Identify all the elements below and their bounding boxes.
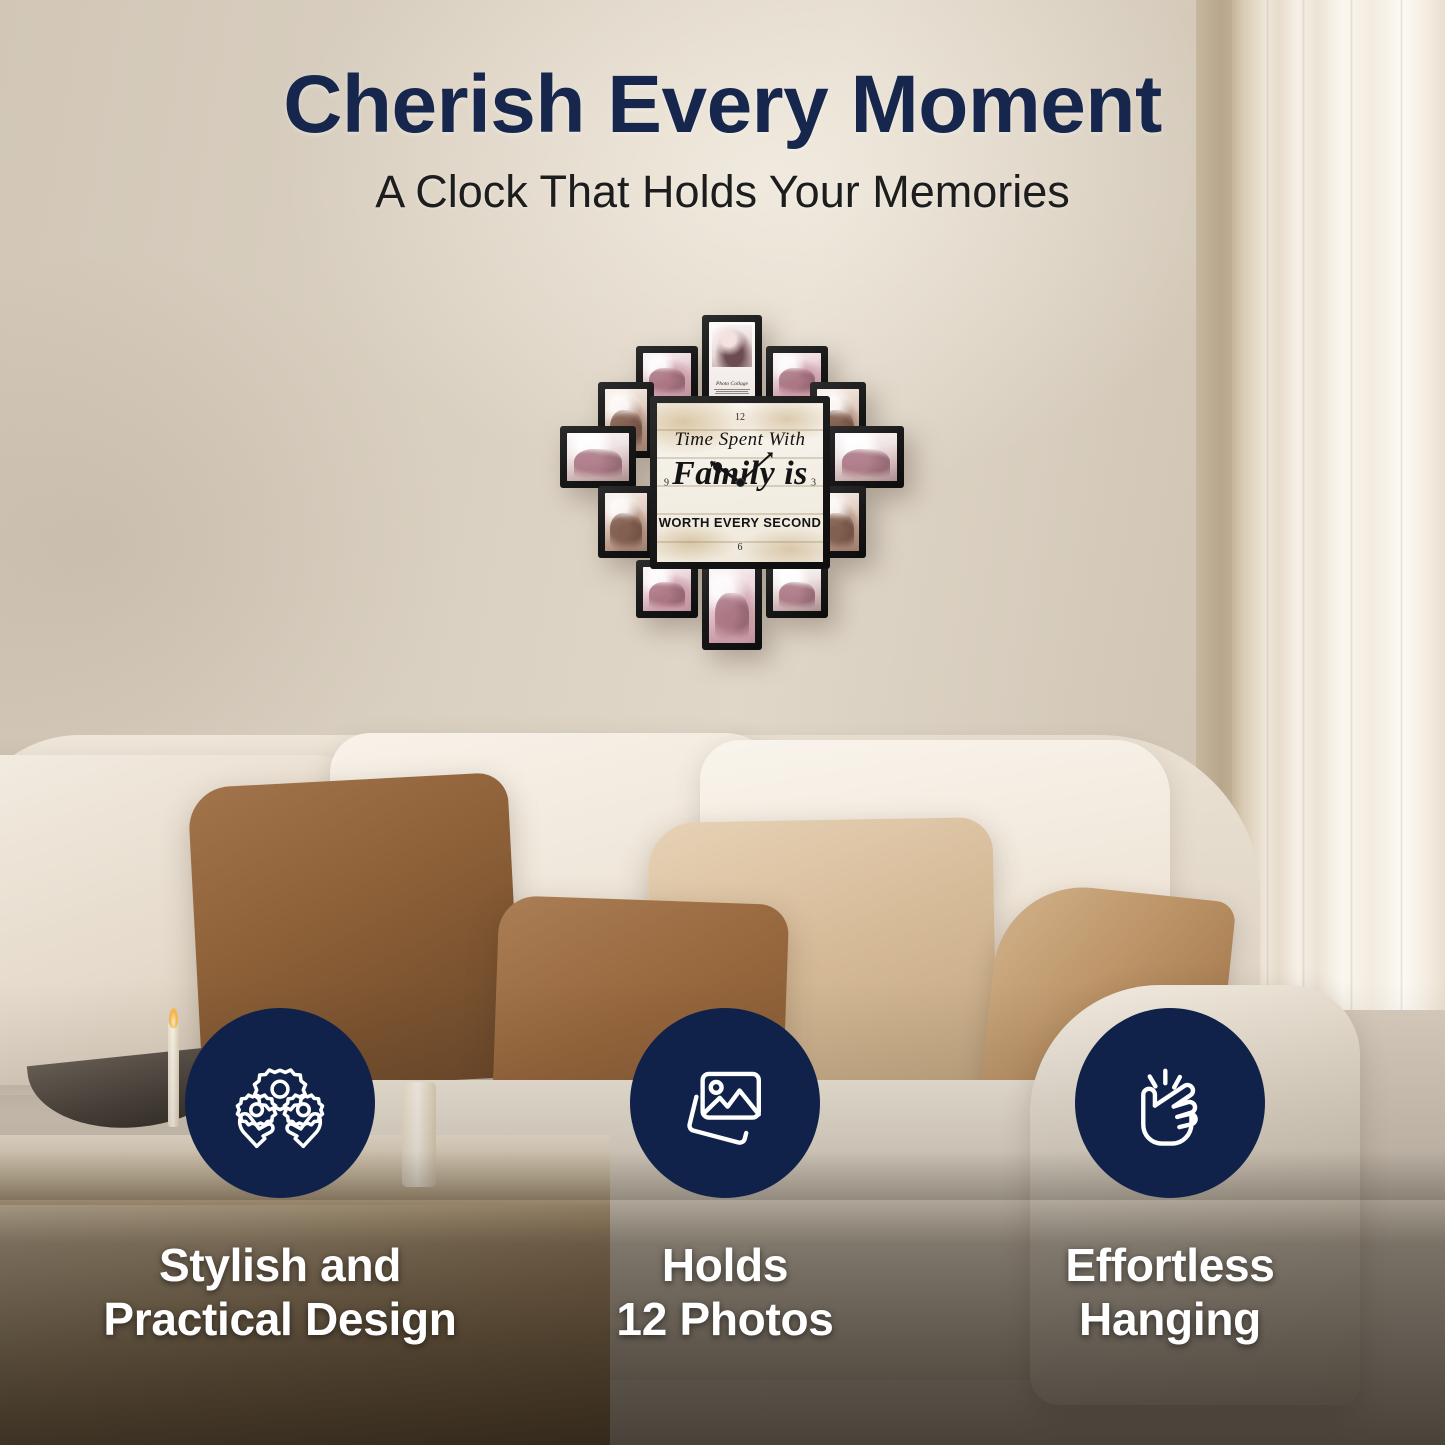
hands-holding-gears-icon: [228, 1051, 332, 1155]
feature-row: Stylish and Practical Design Holds 12 Ph…: [0, 1008, 1445, 1445]
photo-frame-mid-left[interactable]: [560, 426, 636, 488]
header-block: Cherish Every Moment A Clock That Holds …: [0, 0, 1445, 218]
photo-thumbnail: [835, 433, 897, 481]
feature-icon-badge: [1075, 1008, 1265, 1198]
sample-insert-text-lines: [714, 388, 751, 395]
feature-icon-badge: [185, 1008, 375, 1198]
clock-block-line: WORTH EVERY SECOND: [657, 515, 823, 530]
feature-icon-badge: [630, 1008, 820, 1198]
feature-caption-line-1: Effortless: [985, 1238, 1355, 1292]
clock-face[interactable]: 12 3 6 9 Time Spent With Family is WORTH…: [650, 396, 830, 569]
clock-center-pivot: [736, 478, 745, 487]
photo-thumbnail: [773, 567, 821, 611]
feature-caption-line-1: Holds: [540, 1238, 910, 1292]
clock-numeral-12: 12: [735, 412, 745, 423]
photo-thumbnail: [709, 567, 755, 643]
photo-stack-icon: [673, 1051, 777, 1155]
snapping-fingers-icon: [1118, 1051, 1222, 1155]
feature-caption: Stylish and Practical Design: [95, 1238, 465, 1347]
feature-caption-line-2: Hanging: [985, 1292, 1355, 1346]
page-subtitle: A Clock That Holds Your Memories: [0, 166, 1445, 218]
feature-caption-line-1: Stylish and: [95, 1238, 465, 1292]
feature-stylish-practical-design[interactable]: Stylish and Practical Design: [95, 1008, 465, 1347]
photo-thumbnail: [567, 433, 629, 481]
feature-effortless-hanging[interactable]: Effortless Hanging: [985, 1008, 1355, 1347]
photo-frame-bottom-center[interactable]: [702, 560, 762, 650]
feature-holds-12-photos[interactable]: Holds 12 Photos: [540, 1008, 910, 1347]
feature-caption-line-2: Practical Design: [95, 1292, 465, 1346]
clock-script-line-1: Time Spent With: [657, 429, 823, 451]
sample-insert-title: Photo Collage: [716, 382, 748, 388]
photo-frame-lower-left[interactable]: [598, 486, 654, 558]
photo-frame-mid-right[interactable]: [828, 426, 904, 488]
page-title: Cherish Every Moment: [0, 58, 1445, 152]
feature-caption: Holds 12 Photos: [540, 1238, 910, 1347]
sample-photo-insert: Photo Collage: [709, 322, 755, 397]
clock-numeral-6: 6: [738, 542, 743, 553]
sample-photo-image: [712, 325, 752, 367]
photo-collage-wall-clock[interactable]: Photo Collage 12 3 6 9: [536, 310, 916, 655]
clock-face-dial: 12 3 6 9 Time Spent With Family is WORTH…: [657, 403, 823, 562]
feature-caption-line-2: 12 Photos: [540, 1292, 910, 1346]
photo-frame-top-center[interactable]: Photo Collage: [702, 315, 762, 404]
feature-caption: Effortless Hanging: [985, 1238, 1355, 1347]
photo-thumbnail: [643, 567, 691, 611]
clock-script-line-2: Family is: [657, 455, 823, 493]
photo-thumbnail: [605, 493, 647, 551]
